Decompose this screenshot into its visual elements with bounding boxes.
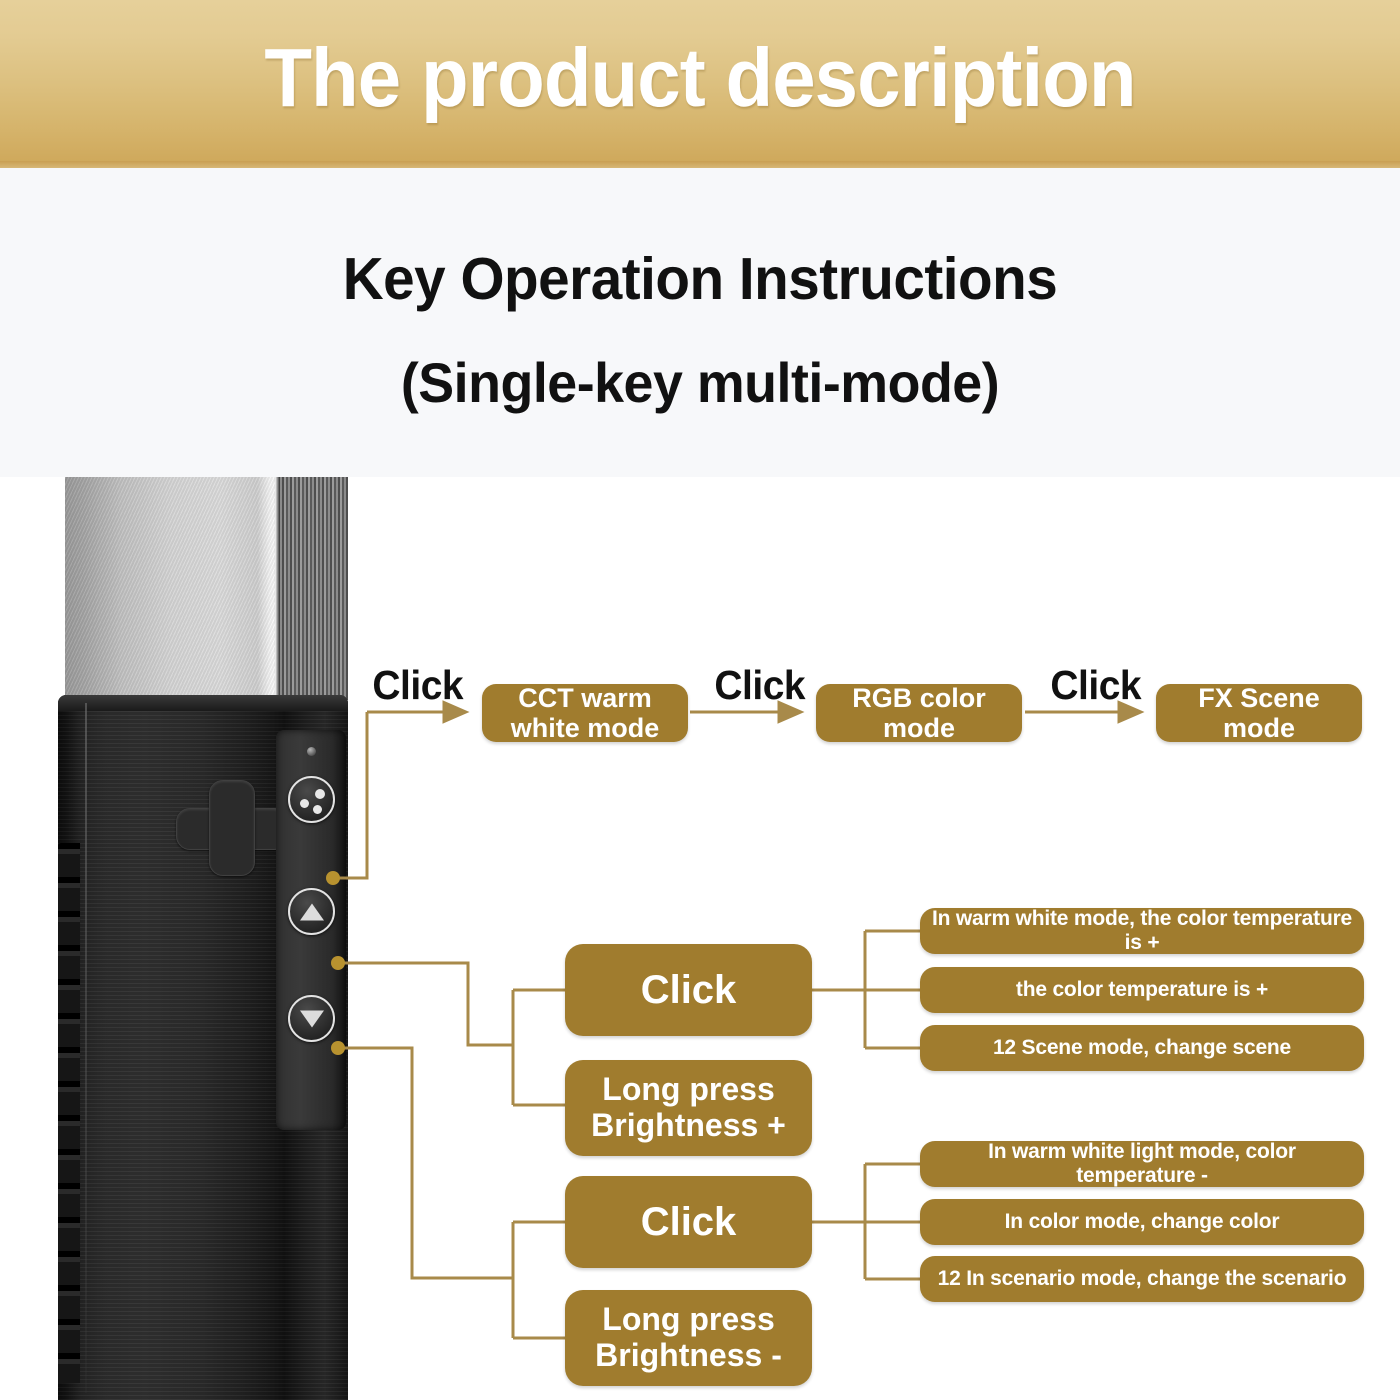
click-label-2: Click [714, 662, 805, 709]
node-line-1: RGB color [852, 683, 986, 713]
banner-title: The product description [42, 36, 1358, 119]
three-dots-icon-dot3 [313, 805, 322, 814]
detail-down-1[interactable]: In warm white light mode, color temperat… [920, 1141, 1364, 1187]
brightness-up-button[interactable] [288, 888, 335, 935]
grip-edge-highlight [85, 703, 87, 1393]
node-rgb-color-mode[interactable]: RGB color mode [816, 684, 1022, 742]
led-head-panel [65, 477, 348, 700]
node-line-1: Long press [602, 1072, 774, 1108]
click-label-1: Click [372, 662, 463, 709]
indicator-led-icon [307, 747, 316, 756]
node-fx-scene-mode[interactable]: FX Scene mode [1156, 684, 1362, 742]
node-down-click[interactable]: Click [565, 1176, 812, 1268]
subtitle-block: Key Operation Instructions (Single-key m… [0, 168, 1400, 477]
node-line-2: Brightness + [591, 1108, 786, 1144]
brand-emblem-icon [176, 780, 288, 876]
detail-up-1[interactable]: In warm white mode, the color temperatur… [920, 908, 1364, 954]
node-line-2: mode [883, 713, 955, 743]
node-line-1: Long press [602, 1302, 774, 1338]
triangle-down-icon [300, 1010, 324, 1027]
grip-texture-notches [58, 843, 80, 1383]
heatsink-fins [280, 477, 348, 700]
three-dots-icon-dot2 [300, 799, 309, 808]
node-up-click[interactable]: Click [565, 944, 812, 1036]
node-line-1: CCT warm [518, 683, 652, 713]
node-up-long-press[interactable]: Long press Brightness + [565, 1060, 812, 1156]
page-title: Key Operation Instructions [28, 245, 1372, 313]
power-mode-button[interactable] [288, 776, 335, 823]
three-dots-icon [315, 789, 325, 799]
brightness-down-button[interactable] [288, 995, 335, 1042]
header-banner: The product description [0, 0, 1400, 168]
node-line-2: Brightness - [595, 1338, 782, 1374]
page-subtitle: (Single-key multi-mode) [28, 350, 1372, 415]
node-line-2: mode [1223, 713, 1295, 743]
emblem-vertical-bar [209, 780, 255, 876]
node-down-long-press[interactable]: Long press Brightness - [565, 1290, 812, 1386]
grip-top-bevel [58, 695, 348, 711]
product-description-infographic: The product description Key Operation In… [0, 0, 1400, 1400]
triangle-up-icon [300, 903, 324, 920]
detail-up-3[interactable]: 12 Scene mode, change scene [920, 1025, 1364, 1071]
detail-down-2[interactable]: In color mode, change color [920, 1199, 1364, 1245]
node-line-2: white mode [511, 713, 660, 743]
node-cct-warm-white-mode[interactable]: CCT warm white mode [482, 684, 688, 742]
detail-down-3[interactable]: 12 In scenario mode, change the scenario [920, 1256, 1364, 1302]
control-panel-strip [276, 730, 346, 1130]
click-label-3: Click [1050, 662, 1141, 709]
node-line-1: FX Scene [1198, 683, 1320, 713]
detail-up-2[interactable]: the color temperature is + [920, 967, 1364, 1013]
product-photo [58, 477, 348, 1400]
